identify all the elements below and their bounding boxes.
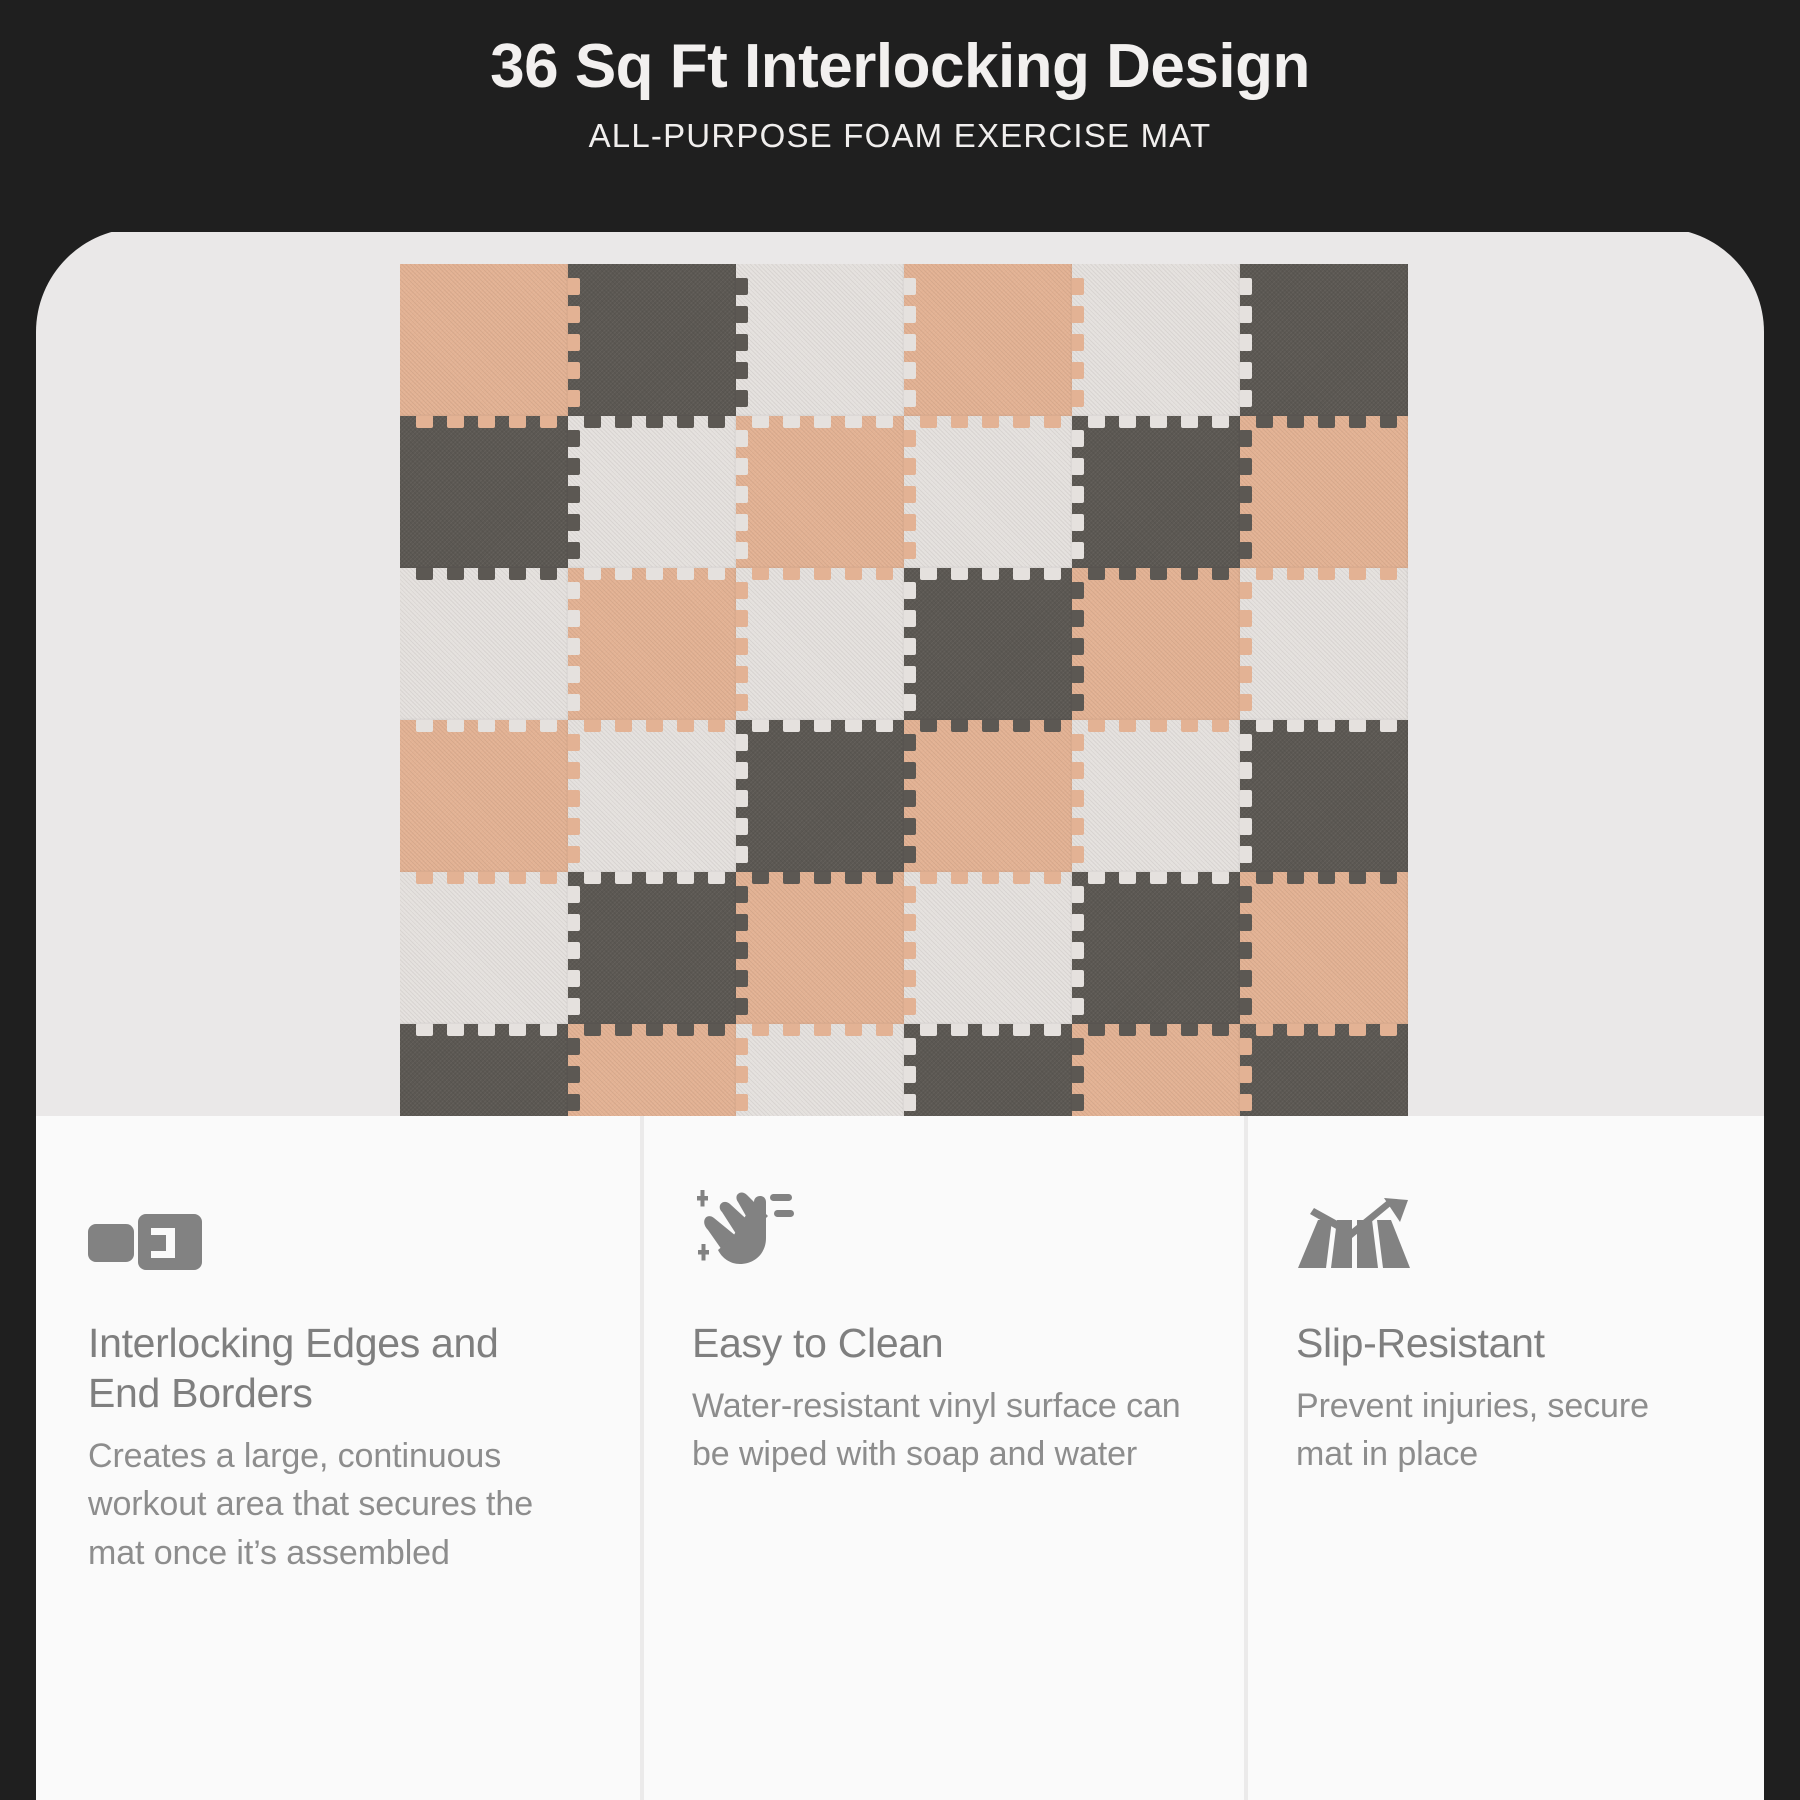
mat-tile [568, 264, 736, 416]
feature-card-row: Interlocking Edges and End Borders Creat… [36, 1116, 1764, 1800]
foam-mat-tile-grid [400, 264, 1400, 1169]
mat-tile [400, 720, 568, 872]
feature-card-easy-to-clean: Easy to Clean Water-resistant vinyl surf… [640, 1116, 1244, 1800]
mat-tile [400, 872, 568, 1024]
mat-tile [400, 416, 568, 568]
mat-tile [736, 416, 904, 568]
mat-tile [1072, 720, 1240, 872]
mat-tile [1072, 416, 1240, 568]
page-title: 36 Sq Ft Interlocking Design [490, 34, 1310, 101]
mat-tile [904, 416, 1072, 568]
mat-tile [1240, 264, 1408, 416]
mat-tile [736, 568, 904, 720]
mat-tile [1240, 720, 1408, 872]
product-image [400, 264, 1400, 1169]
feature-card-slip-resistant: Slip-Resistant Prevent injuries, secure … [1244, 1116, 1764, 1800]
mat-tile [736, 720, 904, 872]
mat-tile [568, 416, 736, 568]
mat-tile [904, 720, 1072, 872]
mat-tile [400, 264, 568, 416]
feature-title: Easy to Clean [692, 1318, 1192, 1368]
feature-body: Prevent injuries, secure mat in place [1296, 1382, 1656, 1479]
mat-tile [736, 264, 904, 416]
mat-tile [1240, 568, 1408, 720]
mat-tile [904, 568, 1072, 720]
mat-tile [1240, 872, 1408, 1024]
interlocking-puzzle-icon [88, 1186, 588, 1272]
mat-tile [1072, 264, 1240, 416]
header-banner: 36 Sq Ft Interlocking Design ALL-PURPOSE… [0, 0, 1800, 232]
mat-tile [568, 720, 736, 872]
feature-card-interlocking: Interlocking Edges and End Borders Creat… [36, 1116, 640, 1800]
mat-tile [904, 872, 1072, 1024]
feature-title: Interlocking Edges and End Borders [88, 1318, 518, 1418]
mat-tile [568, 872, 736, 1024]
feature-body: Water-resistant vinyl surface can be wip… [692, 1382, 1202, 1479]
mat-tile [400, 568, 568, 720]
mat-tile [904, 264, 1072, 416]
mat-tile [1240, 416, 1408, 568]
mat-tile [1072, 568, 1240, 720]
feature-title: Slip-Resistant [1296, 1318, 1712, 1368]
mat-tile [1072, 872, 1240, 1024]
wiping-hand-sparkle-icon [692, 1186, 1192, 1272]
page-subtitle: ALL-PURPOSE FOAM EXERCISE MAT [589, 117, 1212, 155]
feature-body: Creates a large, continuous workout area… [88, 1432, 588, 1577]
mat-tile [736, 872, 904, 1024]
mat-arrow-grip-icon [1296, 1186, 1712, 1272]
mat-tile [568, 568, 736, 720]
